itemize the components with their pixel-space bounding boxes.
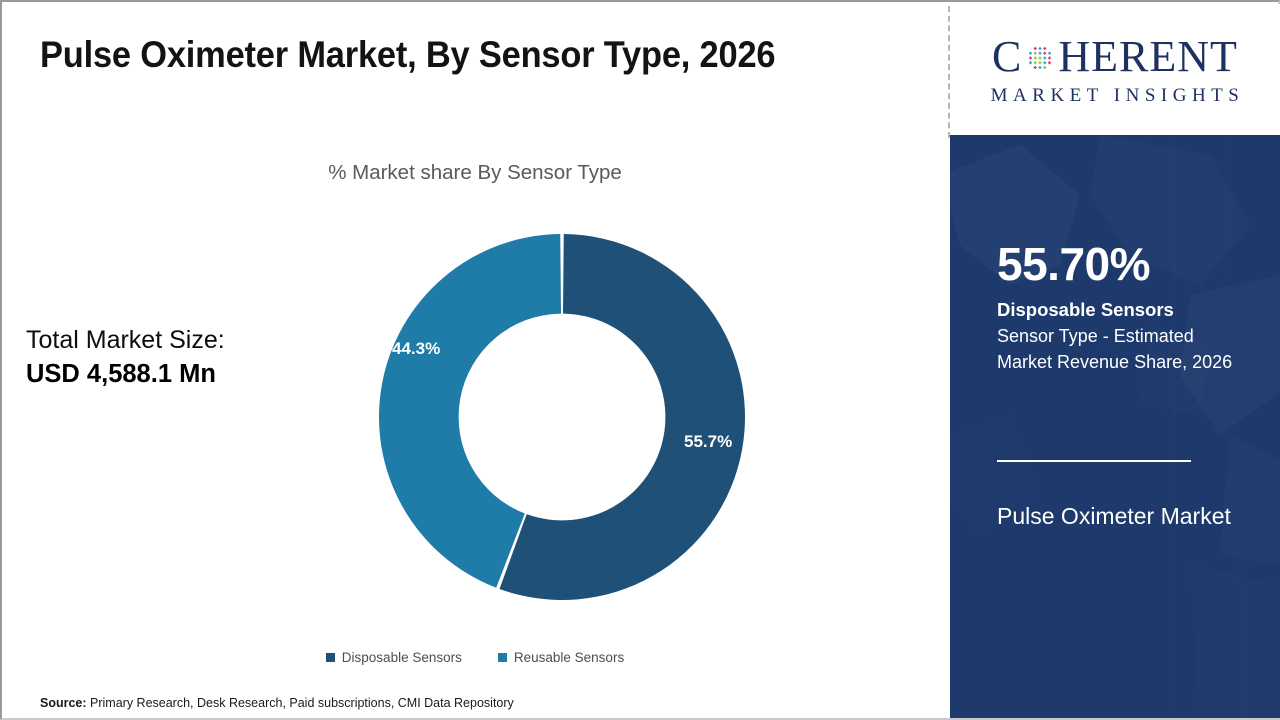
donut-chart-svg [362, 217, 762, 617]
globe-dot [1044, 46, 1047, 49]
globe-dot [1039, 46, 1042, 49]
panel-stat-block: 55.70% Disposable Sensors Sensor Type - … [997, 240, 1252, 376]
slice-label-reusable: 44.3% [392, 339, 440, 359]
stat-segment-name: Disposable Sensors [997, 299, 1252, 321]
slice-label-disposable: 55.7% [684, 432, 732, 452]
globe-dot [1029, 51, 1032, 54]
legend-label-disposable: Disposable Sensors [342, 650, 462, 665]
right-column: C HERENT MARKET INSIGHTS [950, 2, 1280, 718]
legend-item-reusable[interactable]: Reusable Sensors [498, 650, 624, 665]
globe-dot [1034, 51, 1037, 54]
world-map-texture-icon [950, 135, 1280, 718]
legend-swatch-icon [498, 653, 507, 662]
chart-legend: Disposable Sensors Reusable Sensors [2, 650, 948, 665]
legend-swatch-icon [326, 653, 335, 662]
stat-value: 55.70% [997, 240, 1252, 288]
logo-text-herent: HERENT [1058, 35, 1238, 79]
globe-dot [1034, 61, 1037, 64]
legend-label-reusable: Reusable Sensors [514, 650, 624, 665]
dotted-globe-icon [1023, 41, 1057, 75]
brand-logo[interactable]: C HERENT MARKET INSIGHTS [950, 4, 1280, 135]
source-line: Source: Primary Research, Desk Research,… [40, 696, 514, 710]
panel-market-name: Pulse Oximeter Market [997, 497, 1247, 536]
panel-divider [997, 460, 1191, 462]
total-market-size-label: Total Market Size: [26, 324, 225, 356]
globe-dot [1044, 51, 1047, 54]
globe-dot [1029, 56, 1032, 59]
globe-dot [1039, 51, 1042, 54]
page-title: Pulse Oximeter Market, By Sensor Type, 2… [40, 34, 775, 76]
globe-dot [1044, 61, 1047, 64]
infographic-page: Pulse Oximeter Market, By Sensor Type, 2… [0, 0, 1280, 720]
logo-subtitle: MARKET INSIGHTS [986, 85, 1245, 107]
globe-dot [1048, 51, 1051, 54]
logo-wordmark: C HERENT [992, 33, 1238, 81]
logo-letter-c: C [992, 35, 1022, 79]
globe-dot [1044, 66, 1047, 69]
stat-description: Sensor Type - Estimated Market Revenue S… [997, 324, 1252, 375]
globe-dot [1034, 46, 1037, 49]
globe-dot [1034, 66, 1037, 69]
globe-dot [1039, 56, 1042, 59]
chart-subtitle: % Market share By Sensor Type [2, 161, 948, 185]
total-market-size-block: Total Market Size: USD 4,588.1 Mn [26, 324, 225, 391]
globe-dot [1034, 56, 1037, 59]
globe-dot [1048, 61, 1051, 64]
highlight-panel: 55.70% Disposable Sensors Sensor Type - … [950, 135, 1280, 718]
source-text: Primary Research, Desk Research, Paid su… [87, 696, 514, 710]
main-content-area: Pulse Oximeter Market, By Sensor Type, 2… [2, 2, 948, 718]
donut-chart: 55.7% 44.3% [362, 217, 762, 617]
globe-dot [1039, 61, 1042, 64]
total-market-size-value: USD 4,588.1 Mn [26, 358, 225, 391]
globe-dot [1048, 56, 1051, 59]
legend-item-disposable[interactable]: Disposable Sensors [326, 650, 462, 665]
globe-dot [1044, 56, 1047, 59]
source-label: Source: [40, 696, 87, 710]
globe-dot [1039, 66, 1042, 69]
globe-dot [1029, 61, 1032, 64]
